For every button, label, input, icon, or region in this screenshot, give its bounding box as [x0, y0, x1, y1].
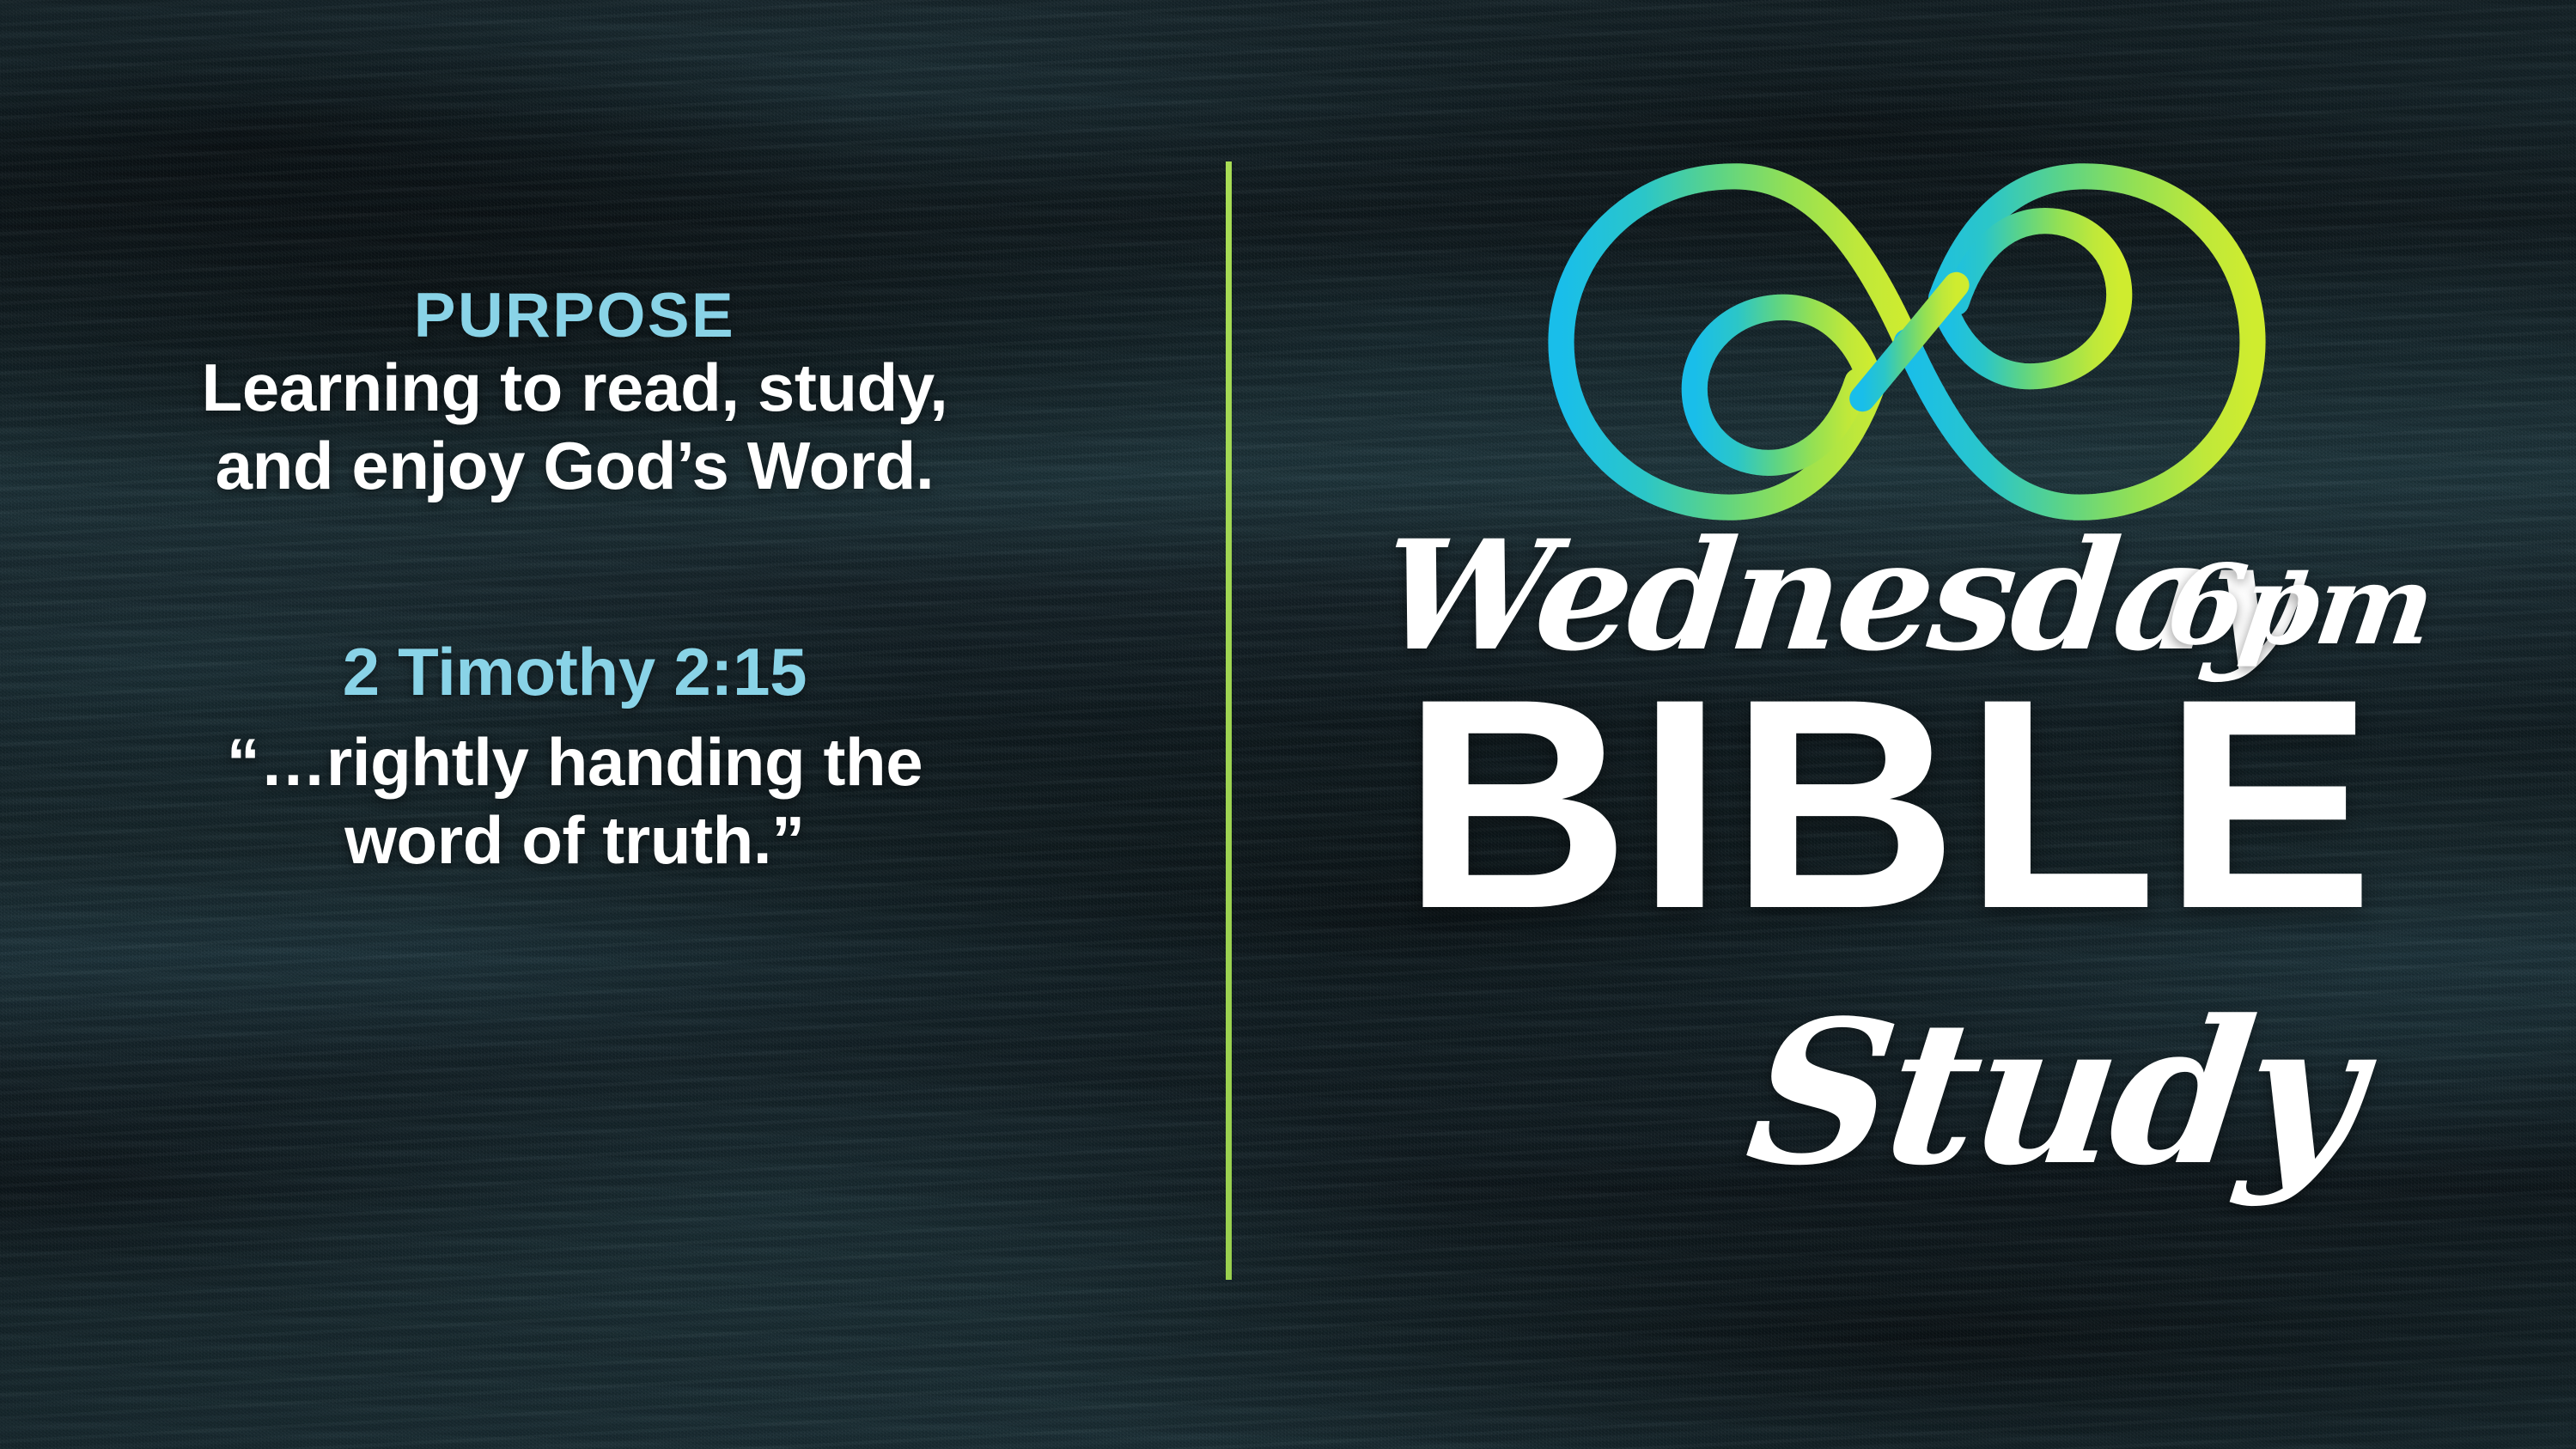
- bible-study-branding-block: Wednesday 6pm BIBLE Study: [1226, 0, 2576, 1449]
- subtitle-label: Study: [1737, 977, 2370, 1209]
- verse-reference: 2 Timothy 2:15: [0, 636, 1149, 709]
- slide-canvas: PURPOSE Learning to read, study, and enj…: [0, 0, 2576, 1449]
- purpose-heading: PURPOSE: [0, 283, 1149, 349]
- purpose-line-2: and enjoy God’s Word.: [0, 427, 1149, 505]
- title-label: BIBLE: [1208, 679, 2573, 929]
- purpose-line-1: Learning to read, study,: [0, 349, 1149, 427]
- verse-line-1: “…rightly handing the: [0, 723, 1149, 801]
- verse-line-2: word of truth.”: [0, 801, 1149, 880]
- infinity-loop-icon: [1533, 144, 2281, 539]
- purpose-text-block: PURPOSE Learning to read, study, and enj…: [0, 283, 1203, 880]
- text-block-spacer: [0, 505, 1149, 636]
